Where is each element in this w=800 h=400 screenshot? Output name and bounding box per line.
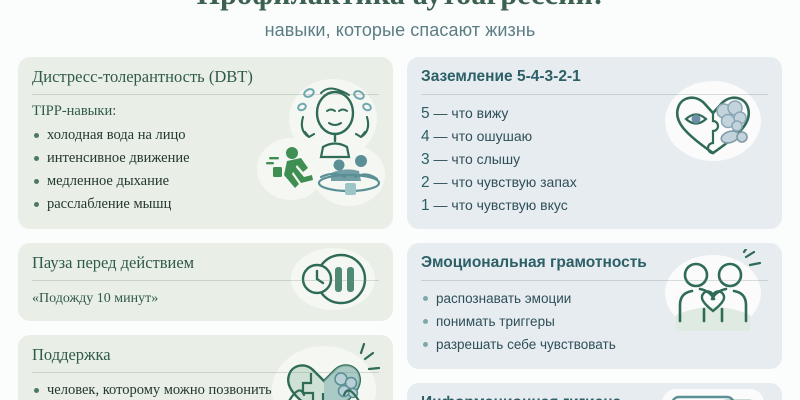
card-support[interactable]: Поддержка человек, которому можно позвон… (18, 335, 393, 400)
card-body: «Подожду 10 минут» (32, 288, 379, 309)
list-item: холодная вода на лицо (32, 125, 379, 146)
header: Профилактика аутоагрессии: навыки, котор… (0, 0, 800, 42)
card-body: TIPP-навыки: холодная вода на лицо интен… (32, 102, 379, 215)
card-emotional-literacy[interactable]: Эмоциональная грамотность распознавать э… (407, 243, 782, 369)
step-text: — что чувствую запах (434, 174, 577, 190)
list-item: 4 — что ошушаю (421, 125, 768, 148)
step-text: — что чувствую вкус (434, 197, 568, 213)
list-item: интенсивное движение (32, 148, 379, 169)
support-items-list: человек, которому можно позвонить группы… (32, 380, 379, 400)
step-text: — что слышу (434, 151, 521, 167)
card-title: Эмоциональная грамотность (421, 253, 768, 281)
list-item: 5 — что вижу (421, 102, 768, 125)
infographic-page: Профилактика аутоагрессии: навыки, котор… (0, 0, 800, 400)
distress-items-list: холодная вода на лицо интенсивное движен… (32, 125, 379, 215)
list-item: понимать триггеры (421, 311, 768, 332)
right-column: Заземление 5-4-3-2-1 5 — что вижу 4 — чт… (407, 57, 782, 400)
card-pause-before-action[interactable]: Пауза перед действием «Подожду 10 минут» (18, 243, 393, 321)
left-column: Дистресс-толерантность (DBT) TIPP-навыки… (18, 57, 393, 400)
card-title: Пауза перед действием (32, 253, 379, 281)
list-item: распознавать эмоции (421, 288, 768, 309)
card-title: Заземление 5-4-3-2-1 (421, 67, 768, 95)
page-subtitle: навыки, которые спасают жизнь (0, 18, 800, 42)
step-number: 2 (421, 174, 430, 191)
list-item: медленное дыхание (32, 171, 379, 192)
pause-quote: «Подожду 10 минут» (32, 288, 379, 309)
page-title: Профилактика аутоагрессии: (0, 0, 800, 12)
card-distress-tolerance[interactable]: Дистресс-толерантность (DBT) TIPP-навыки… (18, 57, 393, 229)
emotional-items-list: распознавать эмоции понимать триггеры ра… (421, 288, 768, 355)
card-grounding[interactable]: Заземление 5-4-3-2-1 5 — что вижу 4 — чт… (407, 57, 782, 229)
list-item: человек, которому можно позвонить (32, 380, 379, 400)
step-number: 1 (421, 197, 430, 214)
card-title: Поддержка (32, 345, 379, 373)
step-number: 4 (421, 128, 430, 145)
card-body: человек, которому можно позвонить группы… (32, 380, 379, 400)
step-number: 3 (421, 151, 430, 168)
list-item: расслабление мышц (32, 194, 379, 215)
card-information-hygiene[interactable]: Информационная гигиена меньше токсичного… (407, 383, 782, 400)
list-item: разрешать себе чувствовать (421, 334, 768, 355)
tipp-skills-label: TIPP-навыки: (32, 102, 379, 121)
step-text: — что вижу (434, 105, 509, 121)
cards-grid: Дистресс-толерантность (DBT) TIPP-навыки… (0, 57, 800, 400)
card-body: распознавать эмоции понимать триггеры ра… (421, 288, 768, 355)
step-number: 5 (421, 105, 430, 122)
list-item: 2 — что чувствую запах (421, 171, 768, 194)
list-item: 3 — что слышу (421, 148, 768, 171)
list-item: 1 — что чувствую вкус (421, 194, 768, 217)
card-body: 5 — что вижу 4 — что ошушаю 3 — что слыш… (421, 102, 768, 217)
grounding-steps-list: 5 — что вижу 4 — что ошушаю 3 — что слыш… (421, 102, 768, 217)
step-text: — что ошушаю (434, 128, 533, 144)
card-title: Дистресс-толерантность (DBT) (32, 67, 379, 95)
card-title: Информационная гигиена (421, 393, 768, 400)
